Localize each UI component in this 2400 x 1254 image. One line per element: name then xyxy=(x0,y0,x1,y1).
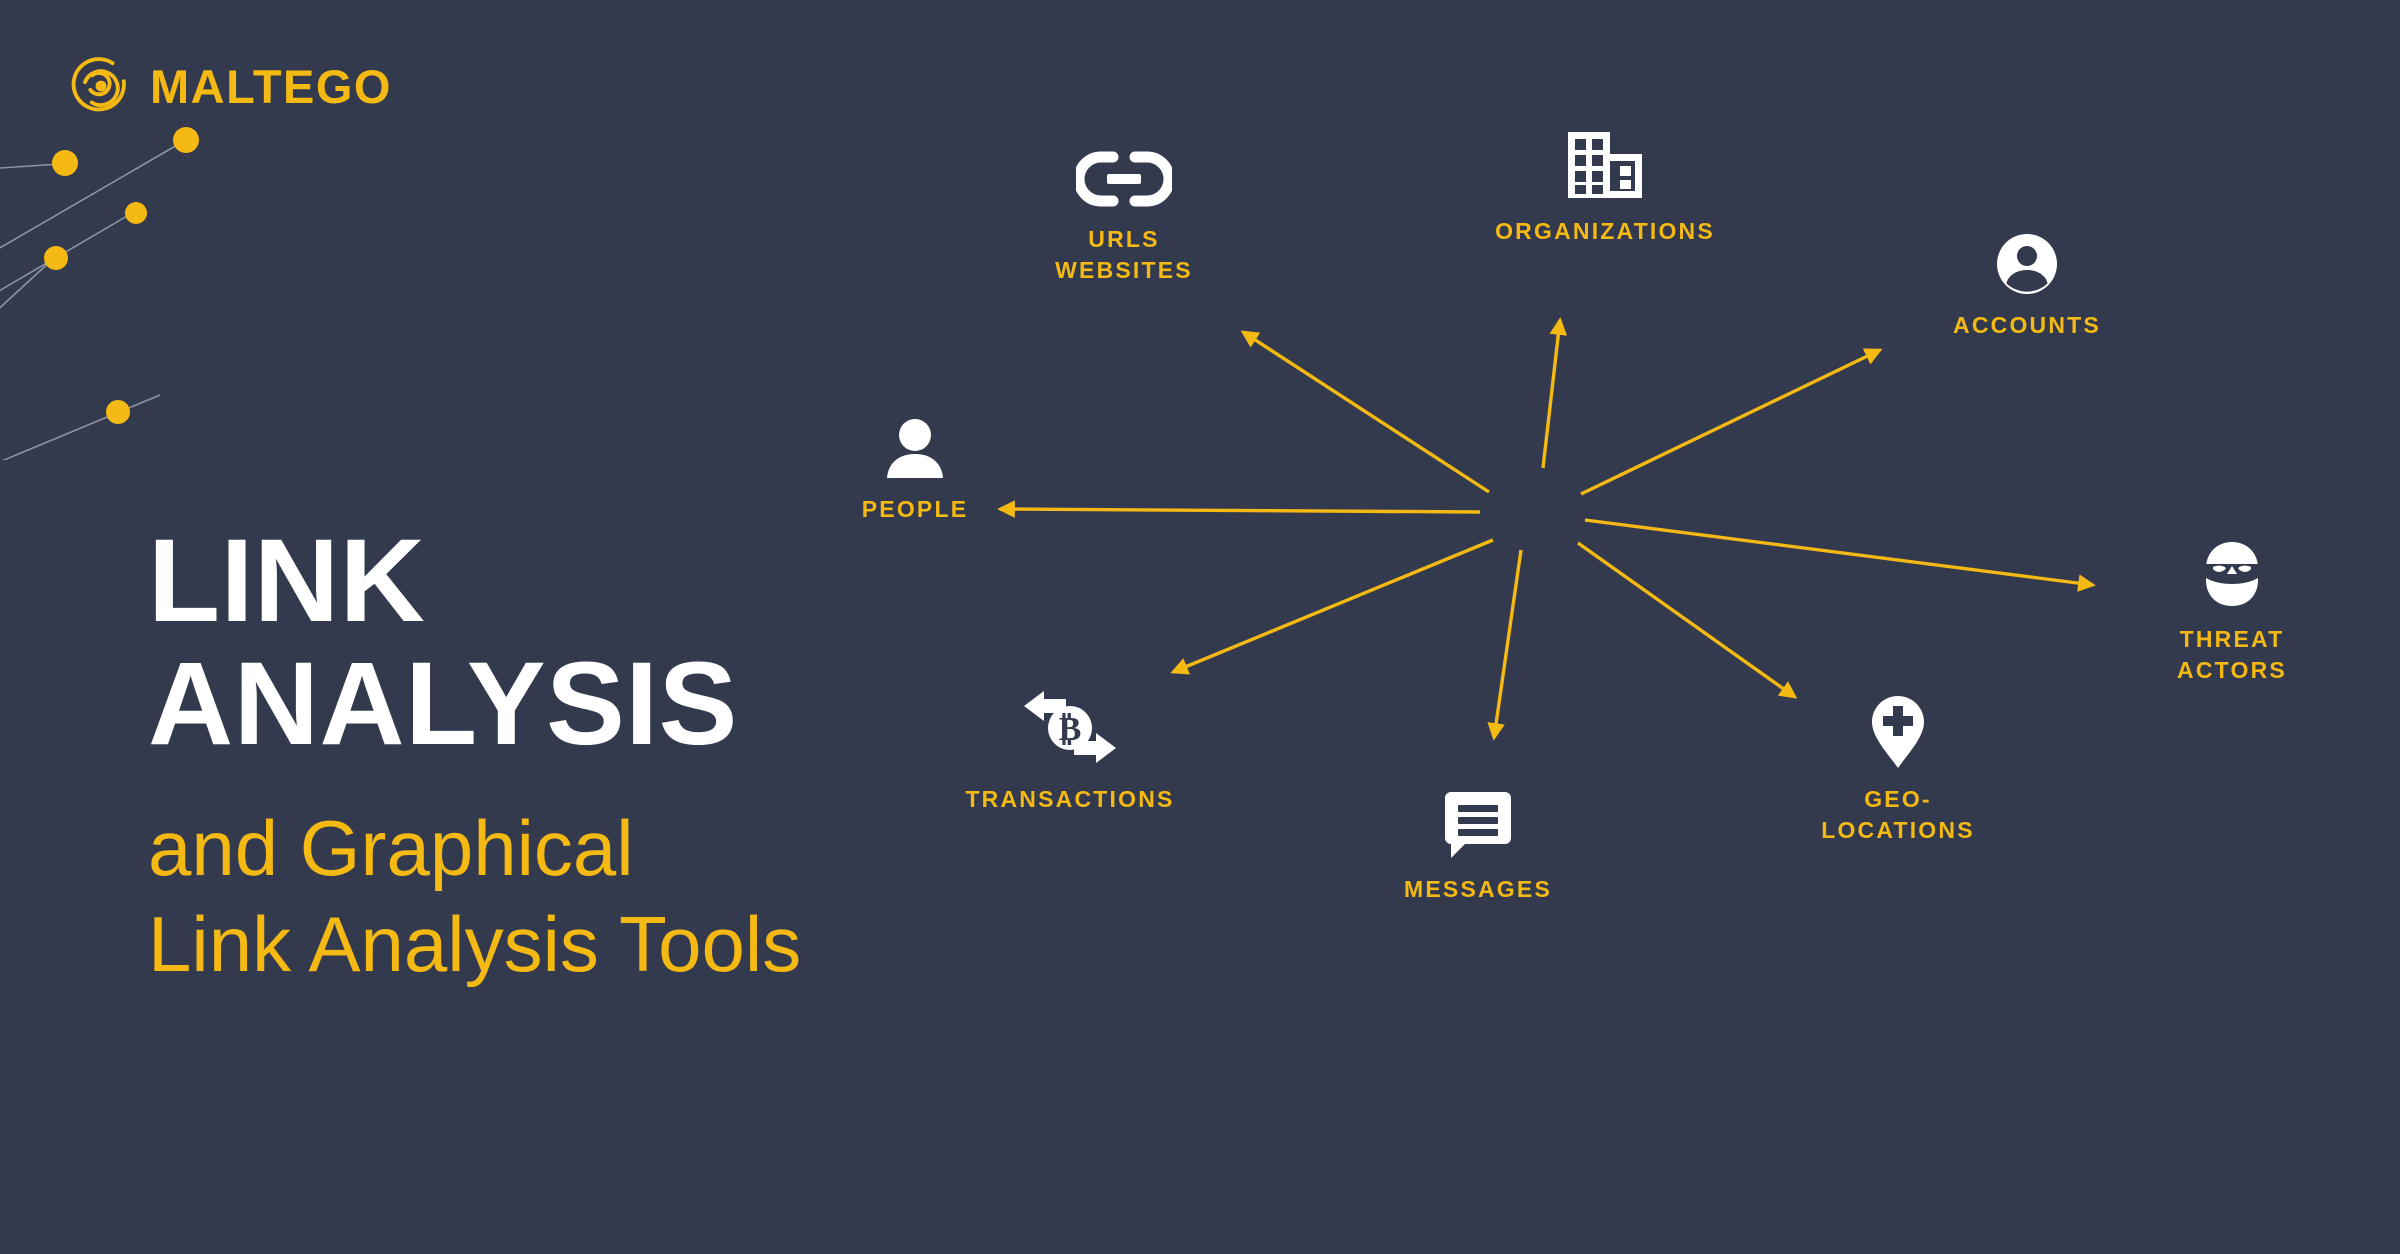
link-chain-icon xyxy=(1076,148,1172,210)
graph-node-organizations[interactable]: ORGANIZATIONS xyxy=(1475,128,1735,247)
graph-edge-messages xyxy=(1494,550,1521,738)
graph-edge-threat-actors xyxy=(1585,520,2093,585)
graph-edge-geo-locations xyxy=(1578,543,1795,697)
graph-node-label: TRANSACTIONS xyxy=(965,784,1174,815)
map-pin-icon xyxy=(1870,694,1926,770)
graph-node-people[interactable]: PEOPLE xyxy=(785,418,1045,525)
graph-node-geo-locations[interactable]: GEO- LOCATIONS xyxy=(1768,694,2028,845)
graph-edge-transactions xyxy=(1173,540,1493,672)
graph-node-label: THREAT ACTORS xyxy=(2177,624,2287,685)
user-circle-icon xyxy=(1995,232,2059,296)
person-silhouette-icon xyxy=(880,418,950,480)
graph-edge-organizations xyxy=(1543,320,1560,468)
svg-text:₿: ₿ xyxy=(1059,711,1082,748)
link-chain-bar xyxy=(1107,174,1141,184)
graph-edge-people xyxy=(1000,509,1480,512)
bitcoin-exchange-icon: ₿ xyxy=(1022,686,1118,770)
graph-node-threat-actors[interactable]: THREAT ACTORS xyxy=(2102,540,2362,685)
graph-node-urls-websites[interactable]: URLS WEBSITES xyxy=(994,148,1254,285)
poster-canvas: MALTEGO LINK ANALYSIS and Graphical Link… xyxy=(0,0,2400,1254)
graph-edges xyxy=(1000,320,2093,738)
graph-node-messages[interactable]: MESSAGES xyxy=(1348,790,1608,905)
graph-node-transactions[interactable]: ₿ TRANSACTIONS xyxy=(940,686,1200,815)
graph-node-accounts[interactable]: ACCOUNTS xyxy=(1897,232,2157,341)
graph-node-label: URLS WEBSITES xyxy=(1055,224,1193,285)
graph-edge-accounts xyxy=(1581,350,1880,494)
graph-node-label: ACCOUNTS xyxy=(1953,310,2101,341)
speech-bubble-icon xyxy=(1443,790,1513,860)
graph-node-label: PEOPLE xyxy=(862,494,969,525)
graph-edge-urls-websites xyxy=(1243,332,1489,492)
office-building-icon xyxy=(1564,128,1646,202)
masked-face-icon xyxy=(2201,540,2263,610)
graph-node-label: MESSAGES xyxy=(1404,874,1552,905)
graph-node-label: GEO- LOCATIONS xyxy=(1821,784,1975,845)
graph-node-label: ORGANIZATIONS xyxy=(1495,216,1715,247)
